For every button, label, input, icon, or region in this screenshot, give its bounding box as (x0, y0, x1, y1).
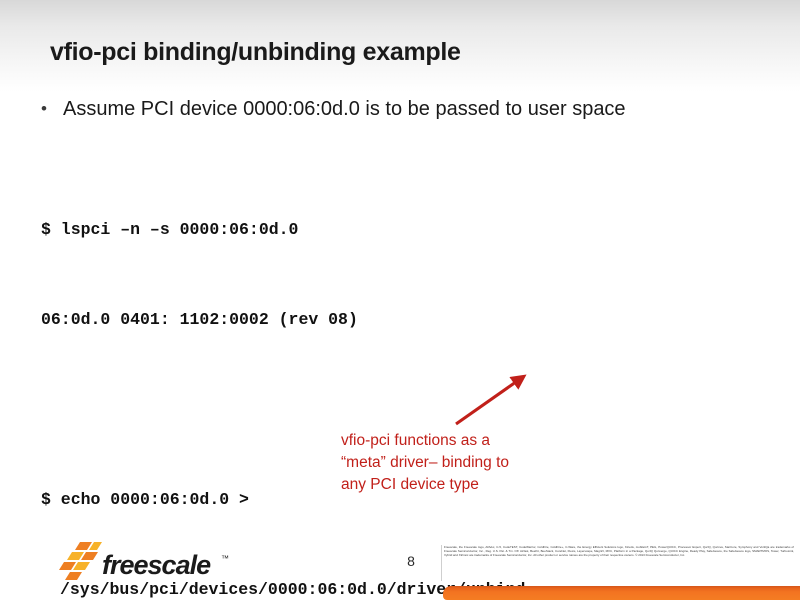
page-number: 8 (398, 553, 424, 569)
slide-canvas: vfio-pci binding/unbinding example • Ass… (0, 0, 800, 600)
code-block: $ lspci –n –s 0000:06:0d.0 06:0d.0 0401:… (41, 155, 761, 600)
bullet-list-item: • Assume PCI device 0000:06:0d.0 is to b… (41, 96, 761, 122)
callout-arrow-icon (430, 358, 550, 438)
footer-accent-bar (443, 586, 800, 600)
code-line: 06:0d.0 0401: 1102:0002 (rev 08) (41, 305, 761, 335)
page-title: vfio-pci binding/unbinding example (50, 38, 750, 67)
annotation-line-1: vfio-pci functions as a (341, 430, 601, 452)
bullet-marker-icon: • (41, 96, 63, 122)
freescale-wordmark: freescale (102, 550, 210, 581)
freescale-logo-mark-icon (58, 540, 104, 582)
bullet-item-label: Assume PCI device 0000:06:0d.0 is to be … (63, 96, 626, 122)
trademark-symbol: ™ (221, 554, 229, 563)
callout-annotation-text: vfio-pci functions as a “meta” driver– b… (341, 430, 601, 496)
code-line: $ lspci –n –s 0000:06:0d.0 (41, 215, 761, 245)
annotation-line-3: any PCI device type (341, 474, 601, 496)
legal-trademark-text: Freescale, the Freescale logo, AltiVec, … (444, 545, 794, 557)
annotation-line-2: “meta” driver– binding to (341, 452, 601, 474)
code-line-spacer (41, 395, 761, 425)
legal-divider (441, 545, 442, 581)
freescale-logo: freescale ™ (58, 540, 248, 584)
